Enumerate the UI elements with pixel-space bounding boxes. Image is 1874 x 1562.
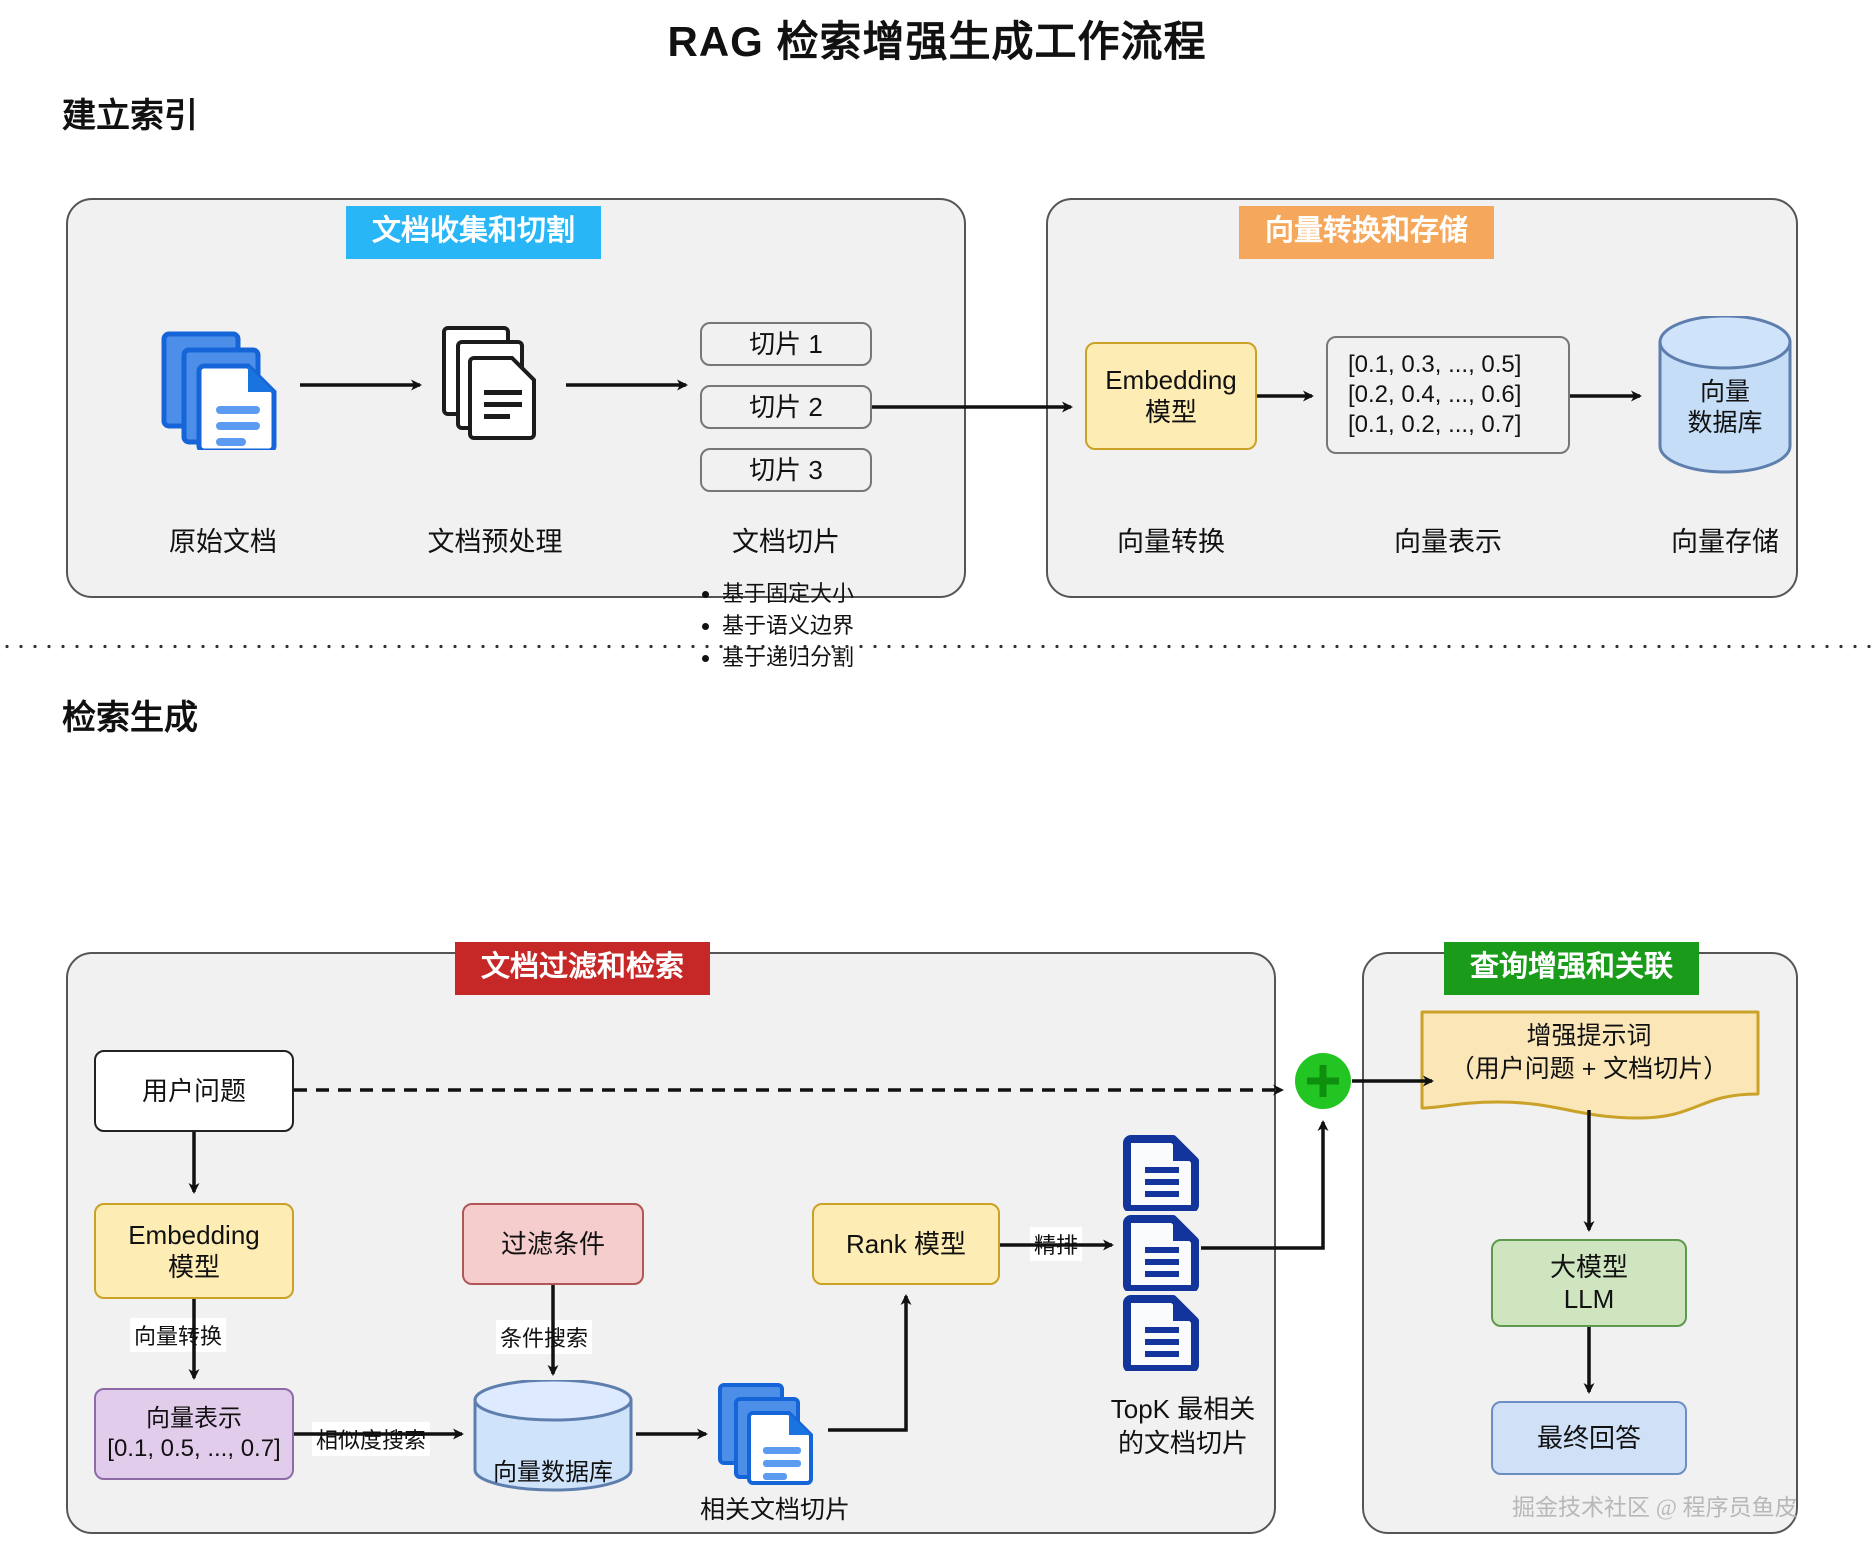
section-heading-indexing: 建立索引 [62, 88, 198, 137]
list-item: 基于固定大小 [722, 578, 854, 610]
embedding-model-node-indexing[interactable]: Embedding 模型 [1085, 342, 1257, 450]
embedding-model-line2: 模型 [168, 1251, 220, 1284]
vector-values-node: [0.1, 0.3, ..., 0.5] [0.2, 0.4, ..., 0.6… [1326, 336, 1570, 454]
embedding-model-line2: 模型 [1145, 396, 1197, 429]
vector-rep-line2: [0.1, 0.5, ..., 0.7] [107, 1434, 280, 1464]
augmented-prompt-line1: 增强提示词 [1428, 1020, 1750, 1053]
vector-row: [0.1, 0.2, ..., 0.7] [1348, 410, 1521, 440]
topk-caption-line2: 的文档切片 [1083, 1427, 1283, 1461]
vector-rep-line1: 向量表示 [146, 1404, 242, 1434]
caption-raw-documents: 原始文档 [158, 520, 288, 559]
final-answer-label: 最终回答 [1537, 1422, 1641, 1455]
chunking-strategy-list: 基于固定大小 基于语义边界 基于递归分割 [700, 578, 854, 674]
document-icon [1123, 1293, 1201, 1371]
diagram-canvas: RAG 检索增强生成工作流程 建立索引 检索生成 文档收集和切割 原始文档 文档… [0, 0, 1874, 1562]
vector-database-label-retrieval: 向量数据库 [470, 1452, 636, 1487]
vector-row: [0.1, 0.3, ..., 0.5] [1348, 350, 1521, 380]
relevant-documents-stack-icon [715, 1375, 825, 1485]
final-answer-node[interactable]: 最终回答 [1491, 1401, 1687, 1475]
llm-line2: LLM [1564, 1283, 1615, 1316]
vector-db-line2: 数据库 [1687, 408, 1762, 439]
filter-condition-label: 过滤条件 [501, 1228, 605, 1261]
augmented-prompt-line2: （用户问题 + 文档切片） [1428, 1053, 1750, 1086]
caption-vector-conversion: 向量转换 [1085, 520, 1257, 559]
edge-label-rerank: 精排 [1030, 1227, 1082, 1261]
badge-vector-storage: 向量转换和存储 [1239, 206, 1494, 259]
chunk-box-3[interactable]: 切片 3 [700, 448, 872, 492]
documents-stack-icon [158, 320, 288, 450]
documents-outline-icon [440, 320, 550, 450]
plus-circle-icon[interactable] [1294, 1052, 1352, 1110]
topk-caption-line1: TopK 最相关 [1083, 1393, 1283, 1427]
vector-database-label-indexing: 向量 数据库 [1652, 368, 1798, 448]
caption-relevant-chunks: 相关文档切片 [690, 1490, 860, 1526]
document-icon [1123, 1213, 1201, 1291]
augmented-prompt-text: 增强提示词 （用户问题 + 文档切片） [1428, 1020, 1750, 1086]
user-question-label: 用户问题 [142, 1075, 246, 1108]
caption-vector-storage: 向量存储 [1652, 520, 1798, 559]
page-title: RAG 检索增强生成工作流程 [0, 8, 1874, 69]
document-icon [1123, 1133, 1201, 1211]
filter-condition-node[interactable]: 过滤条件 [462, 1203, 644, 1285]
edge-label-similarity-search: 相似度搜索 [312, 1422, 430, 1456]
embedding-model-line1: Embedding [128, 1219, 260, 1252]
watermark: 掘金技术社区 @ 程序员鱼皮 [1512, 1488, 1798, 1522]
rank-model-label: Rank 模型 [846, 1228, 966, 1261]
list-item: 基于递归分割 [722, 642, 854, 674]
caption-document-preprocess: 文档预处理 [420, 520, 570, 559]
badge-query-augmentation: 查询增强和关联 [1444, 942, 1699, 995]
caption-vector-representation: 向量表示 [1326, 520, 1570, 559]
list-item: 基于语义边界 [722, 610, 854, 642]
vector-representation-node[interactable]: 向量表示 [0.1, 0.5, ..., 0.7] [94, 1388, 294, 1480]
edge-label-vector-conversion: 向量转换 [130, 1318, 226, 1352]
llm-node[interactable]: 大模型 LLM [1491, 1239, 1687, 1327]
caption-topk-chunks: TopK 最相关 的文档切片 [1083, 1393, 1283, 1461]
section-heading-retrieval: 检索生成 [62, 690, 198, 739]
user-question-node[interactable]: 用户问题 [94, 1050, 294, 1132]
edge-label-conditional-search: 条件搜索 [496, 1320, 592, 1354]
section-divider [0, 644, 1874, 649]
vector-db-line1: 向量 [1700, 377, 1750, 408]
rank-model-node[interactable]: Rank 模型 [812, 1203, 1000, 1285]
vector-row: [0.2, 0.4, ..., 0.6] [1348, 380, 1521, 410]
embedding-model-node-retrieval[interactable]: Embedding 模型 [94, 1203, 294, 1299]
caption-document-chunks: 文档切片 [700, 520, 872, 559]
badge-document-filter: 文档过滤和检索 [455, 942, 710, 995]
llm-line1: 大模型 [1550, 1251, 1628, 1284]
embedding-model-line1: Embedding [1105, 364, 1237, 397]
badge-document-collection: 文档收集和切割 [346, 206, 601, 259]
chunk-box-1[interactable]: 切片 1 [700, 322, 872, 366]
chunk-box-2[interactable]: 切片 2 [700, 385, 872, 429]
